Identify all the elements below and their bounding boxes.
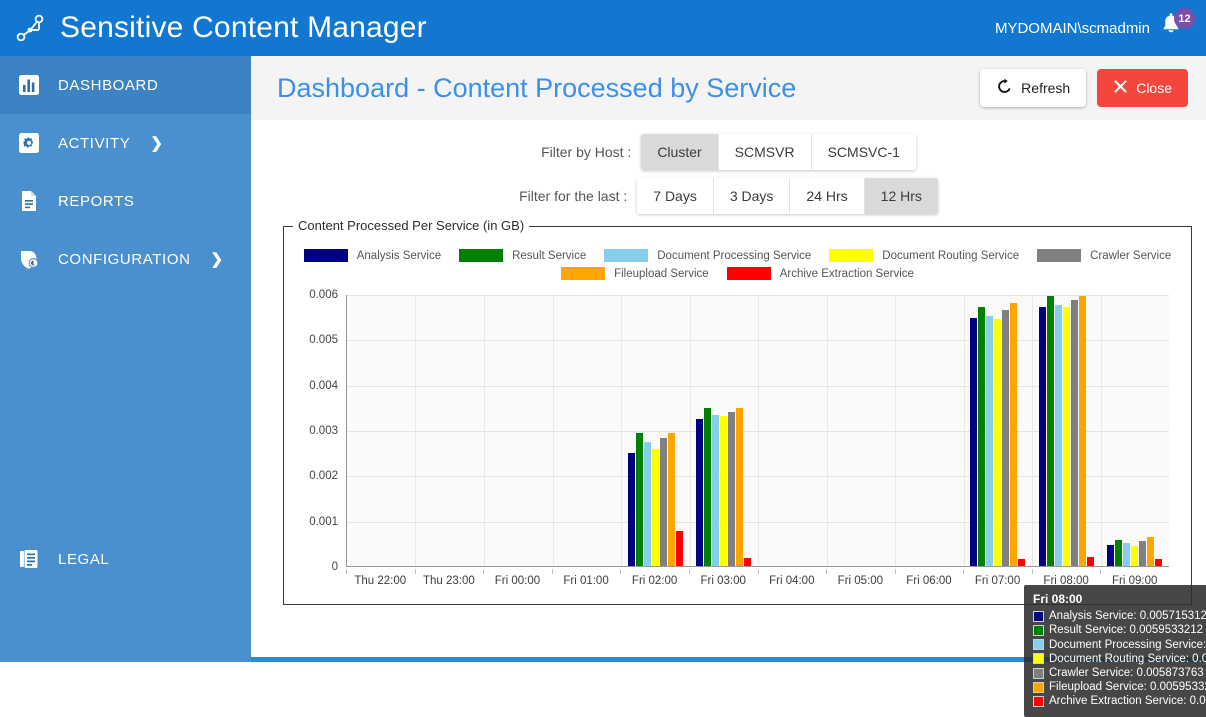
x-axis-tick-mark (620, 569, 621, 574)
tooltip-swatch-icon (1033, 668, 1044, 679)
chart-legend: Analysis ServiceResult ServiceDocument P… (284, 227, 1191, 280)
bar[interactable] (736, 408, 743, 566)
bar-group[interactable] (895, 295, 963, 566)
legend-swatch-icon (604, 249, 648, 262)
document-icon (16, 188, 42, 214)
tooltip-swatch-icon (1033, 696, 1044, 707)
x-axis-tick-label: Fri 04:00 (769, 575, 814, 587)
x-axis-tick-mark (826, 569, 827, 574)
filter-row-host: Filter by Host : ClusterSCMSVRSCMSVC-1 (251, 134, 1206, 170)
bar-group[interactable] (347, 295, 415, 566)
bar-group[interactable] (553, 295, 621, 566)
bar[interactable] (636, 433, 643, 566)
bar[interactable] (1002, 310, 1009, 566)
bar-group[interactable] (484, 295, 552, 566)
x-axis-tick-mark (415, 569, 416, 574)
y-axis: 00.0010.0020.0030.0040.0050.006 (284, 295, 346, 567)
plot-canvas[interactable] (346, 295, 1169, 567)
tooltip-row: Result Service: 0.0059533212 (1033, 623, 1206, 637)
bar-group[interactable] (827, 295, 895, 566)
filter-row-period: Filter for the last : 7 Days3 Days24 Hrs… (251, 178, 1206, 214)
legend-label: Crawler Service (1090, 250, 1171, 262)
sidebar-item-dashboard[interactable]: DASHBOARD (0, 56, 251, 114)
x-axis-tick-label: Fri 00:00 (495, 575, 540, 587)
close-label: Close (1136, 80, 1172, 96)
y-axis-tick-label: 0.005 (309, 334, 338, 346)
top-bar: Sensitive Content Manager MYDOMAIN\scmad… (0, 0, 1206, 56)
bar[interactable] (660, 438, 667, 566)
sidebar-item-label: LEGAL (58, 551, 109, 568)
page-header: Dashboard - Content Processed by Service… (251, 56, 1206, 120)
bar[interactable] (1079, 296, 1086, 566)
tooltip-title: Fri 08:00 (1033, 592, 1206, 606)
bar[interactable] (704, 408, 711, 566)
legend-item[interactable]: Fileupload Service (561, 267, 709, 280)
chart-title: Content Processed Per Service (in GB) (293, 218, 529, 233)
legend-item[interactable]: Crawler Service (1037, 249, 1171, 262)
refresh-button[interactable]: Refresh (980, 69, 1086, 107)
chevron-right-icon: ❯ (211, 250, 224, 268)
legend-label: Document Routing Service (882, 250, 1019, 262)
bar[interactable] (652, 449, 659, 566)
bar[interactable] (1155, 559, 1162, 566)
legend-label: Analysis Service (357, 250, 441, 262)
legend-row: Analysis ServiceResult ServiceDocument P… (284, 249, 1191, 262)
legend-swatch-icon (561, 267, 605, 280)
sidebar-item-label: CONFIGURATION (58, 251, 191, 268)
tooltip-swatch-icon (1033, 639, 1044, 650)
main-content: Dashboard - Content Processed by Service… (251, 56, 1206, 662)
tooltip-row: Document Processing Service: 0.005754893… (1033, 638, 1206, 652)
bar-group[interactable] (621, 295, 689, 566)
bar[interactable] (728, 412, 735, 566)
bar[interactable] (1047, 296, 1054, 566)
chevron-right-icon: ❯ (150, 134, 163, 152)
period-option-3-days[interactable]: 3 Days (714, 178, 791, 214)
legend-label: Archive Extraction Service (780, 268, 914, 280)
legend-label: Result Service (512, 250, 586, 262)
user-area: MYDOMAIN\scmadmin 12 (995, 11, 1206, 45)
brand: Sensitive Content Manager (0, 9, 427, 47)
filter-host-label: Filter by Host : (541, 144, 631, 160)
sidebar-item-label: ACTIVITY (58, 135, 130, 152)
legend-item[interactable]: Analysis Service (304, 249, 441, 262)
x-axis-tick-label: Fri 07:00 (975, 575, 1020, 587)
bar-group[interactable] (964, 295, 1032, 566)
network-nodes-icon (12, 9, 50, 47)
x-axis-tick-mark (483, 569, 484, 574)
x-axis-tick-mark (758, 569, 759, 574)
bar[interactable] (1063, 307, 1070, 566)
tooltip-row: Document Routing Service: 0.0057153124 (1033, 652, 1206, 666)
legend-swatch-icon (304, 249, 348, 262)
bar[interactable] (696, 419, 703, 566)
y-axis-tick-label: 0.006 (309, 289, 338, 301)
x-axis-tick-mark (552, 569, 553, 574)
bar-group[interactable] (758, 295, 826, 566)
bar[interactable] (1071, 300, 1078, 566)
bar[interactable] (970, 318, 977, 566)
bar[interactable] (986, 316, 993, 566)
sidebar-item-label: DASHBOARD (58, 77, 158, 94)
close-button[interactable]: Close (1097, 69, 1188, 107)
tooltip-row: Fileupload Service: 0.0059533212 (1033, 680, 1206, 694)
host-option-cluster[interactable]: Cluster (641, 134, 718, 170)
host-option-scmsvr[interactable]: SCMSVR (719, 134, 812, 170)
bar[interactable] (994, 319, 1001, 566)
tooltip-row: Crawler Service: 0.005873763 (1033, 666, 1206, 680)
refresh-label: Refresh (1021, 80, 1070, 96)
bar[interactable] (1087, 557, 1094, 566)
legend-swatch-icon (459, 249, 503, 262)
tooltip-row: Analysis Service: 0.0057153124 (1033, 609, 1206, 623)
notifications-button[interactable]: 12 (1158, 11, 1188, 45)
x-axis-tick-label: Fri 03:00 (701, 575, 746, 587)
legend-swatch-icon (727, 267, 771, 280)
x-axis-tick-label: Thu 22:00 (354, 575, 406, 587)
legend-item[interactable]: Document Routing Service (829, 249, 1019, 262)
x-axis-tick-label: Fri 01:00 (563, 575, 608, 587)
close-x-icon (1113, 79, 1128, 97)
bar-chart-icon (16, 72, 42, 98)
bar[interactable] (1055, 305, 1062, 566)
x-axis-tick-mark (689, 569, 690, 574)
bar[interactable] (1107, 545, 1114, 566)
bar[interactable] (668, 433, 675, 566)
bar[interactable] (1131, 546, 1138, 566)
period-button-group[interactable]: 7 Days3 Days24 Hrs12 Hrs (637, 178, 938, 214)
refresh-icon (996, 78, 1013, 98)
bar-group[interactable] (1101, 295, 1169, 566)
host-option-scmsvc-1[interactable]: SCMSVC-1 (812, 134, 916, 170)
filter-period-label: Filter for the last : (519, 188, 627, 204)
y-axis-tick-label: 0.002 (309, 470, 338, 482)
app-title: Sensitive Content Manager (60, 11, 427, 45)
bar[interactable] (1147, 537, 1154, 566)
bar[interactable] (1018, 559, 1025, 566)
y-axis-tick-label: 0.003 (309, 425, 338, 437)
x-axis-tick-label: Fri 05:00 (838, 575, 883, 587)
period-option-24-hrs[interactable]: 24 Hrs (790, 178, 864, 214)
bar-group[interactable] (1032, 295, 1100, 566)
x-axis-tick-label: Thu 23:00 (423, 575, 475, 587)
notification-badge: 12 (1174, 8, 1195, 29)
bar[interactable] (1010, 303, 1017, 566)
bar[interactable] (1123, 543, 1130, 566)
chart-tooltip: Fri 08:00 Analysis Service: 0.0057153124… (1024, 585, 1206, 717)
filter-panel: Filter by Host : ClusterSCMSVRSCMSVC-1 F… (251, 120, 1206, 214)
sidebar-item-legal[interactable]: LEGAL (0, 530, 251, 588)
period-option-12-hrs[interactable]: 12 Hrs (865, 178, 938, 214)
host-button-group[interactable]: ClusterSCMSVRSCMSVC-1 (641, 134, 916, 170)
bar[interactable] (1139, 541, 1146, 566)
sidebar: DASHBOARD ACTIVITY ❯ REPORTS (0, 56, 251, 662)
tooltip-value-label: Result Service: 0.0059533212 (1049, 623, 1203, 637)
bar[interactable] (1039, 307, 1046, 566)
bar[interactable] (712, 415, 719, 566)
tooltip-value-label: Document Processing Service: 0.005754893… (1049, 638, 1206, 652)
bar-group[interactable] (415, 295, 483, 566)
sidebar-item-activity[interactable]: ACTIVITY ❯ (0, 114, 251, 172)
bar-group[interactable] (690, 295, 758, 566)
x-axis-tick-mark (895, 569, 896, 574)
sidebar-item-label: REPORTS (58, 193, 134, 210)
tooltip-swatch-icon (1033, 682, 1044, 693)
legal-book-icon (16, 546, 42, 572)
bar[interactable] (628, 453, 635, 566)
x-axis-tick-label: Fri 02:00 (632, 575, 677, 587)
y-axis-tick-label: 0 (332, 561, 338, 573)
bar[interactable] (1115, 540, 1122, 566)
x-axis-tick-mark (346, 569, 347, 574)
legend-swatch-icon (1037, 249, 1081, 262)
sidebar-item-reports[interactable]: REPORTS (0, 172, 251, 230)
legend-label: Document Processing Service (657, 250, 811, 262)
tooltip-swatch-icon (1033, 653, 1044, 664)
x-axis-tick-mark (963, 569, 964, 574)
plot-area: 00.0010.0020.0030.0040.0050.006 Thu 22:0… (284, 295, 1191, 605)
bar[interactable] (744, 558, 751, 566)
tooltip-value-label: Document Routing Service: 0.0057153124 (1049, 652, 1206, 666)
period-option-7-days[interactable]: 7 Days (637, 178, 714, 214)
y-axis-tick-label: 0.001 (309, 516, 338, 528)
page-title: Dashboard - Content Processed by Service (277, 73, 980, 104)
legend-label: Fileupload Service (614, 268, 709, 280)
tooltip-value-label: Analysis Service: 0.0057153124 (1049, 609, 1206, 623)
legend-swatch-icon (829, 249, 873, 262)
x-axis-tick-label: Fri 06:00 (906, 575, 951, 587)
legend-item[interactable]: Document Processing Service (604, 249, 811, 262)
shield-settings-icon (16, 246, 42, 272)
bar[interactable] (676, 531, 683, 566)
chart-panel: Content Processed Per Service (in GB) An… (283, 226, 1192, 605)
tooltip-value-label: Archive Extraction Service: 0.0001984276 (1049, 694, 1206, 708)
gear-icon (16, 130, 42, 156)
legend-row: Fileupload ServiceArchive Extraction Ser… (284, 267, 1191, 280)
sidebar-item-configuration[interactable]: CONFIGURATION ❯ (0, 230, 251, 288)
y-axis-tick-label: 0.004 (309, 380, 338, 392)
tooltip-swatch-icon (1033, 611, 1044, 622)
x-axis-tick-mark (1100, 569, 1101, 574)
tooltip-value-label: Crawler Service: 0.005873763 (1049, 666, 1204, 680)
bar[interactable] (978, 307, 985, 566)
bar[interactable] (720, 416, 727, 566)
legend-item[interactable]: Result Service (459, 249, 586, 262)
bar[interactable] (644, 442, 651, 566)
tooltip-value-label: Fileupload Service: 0.0059533212 (1049, 680, 1206, 694)
x-axis-tick-mark (1032, 569, 1033, 574)
tooltip-swatch-icon (1033, 625, 1044, 636)
legend-item[interactable]: Archive Extraction Service (727, 267, 914, 280)
username-label: MYDOMAIN\scmadmin (995, 20, 1150, 37)
tooltip-row: Archive Extraction Service: 0.0001984276 (1033, 694, 1206, 708)
